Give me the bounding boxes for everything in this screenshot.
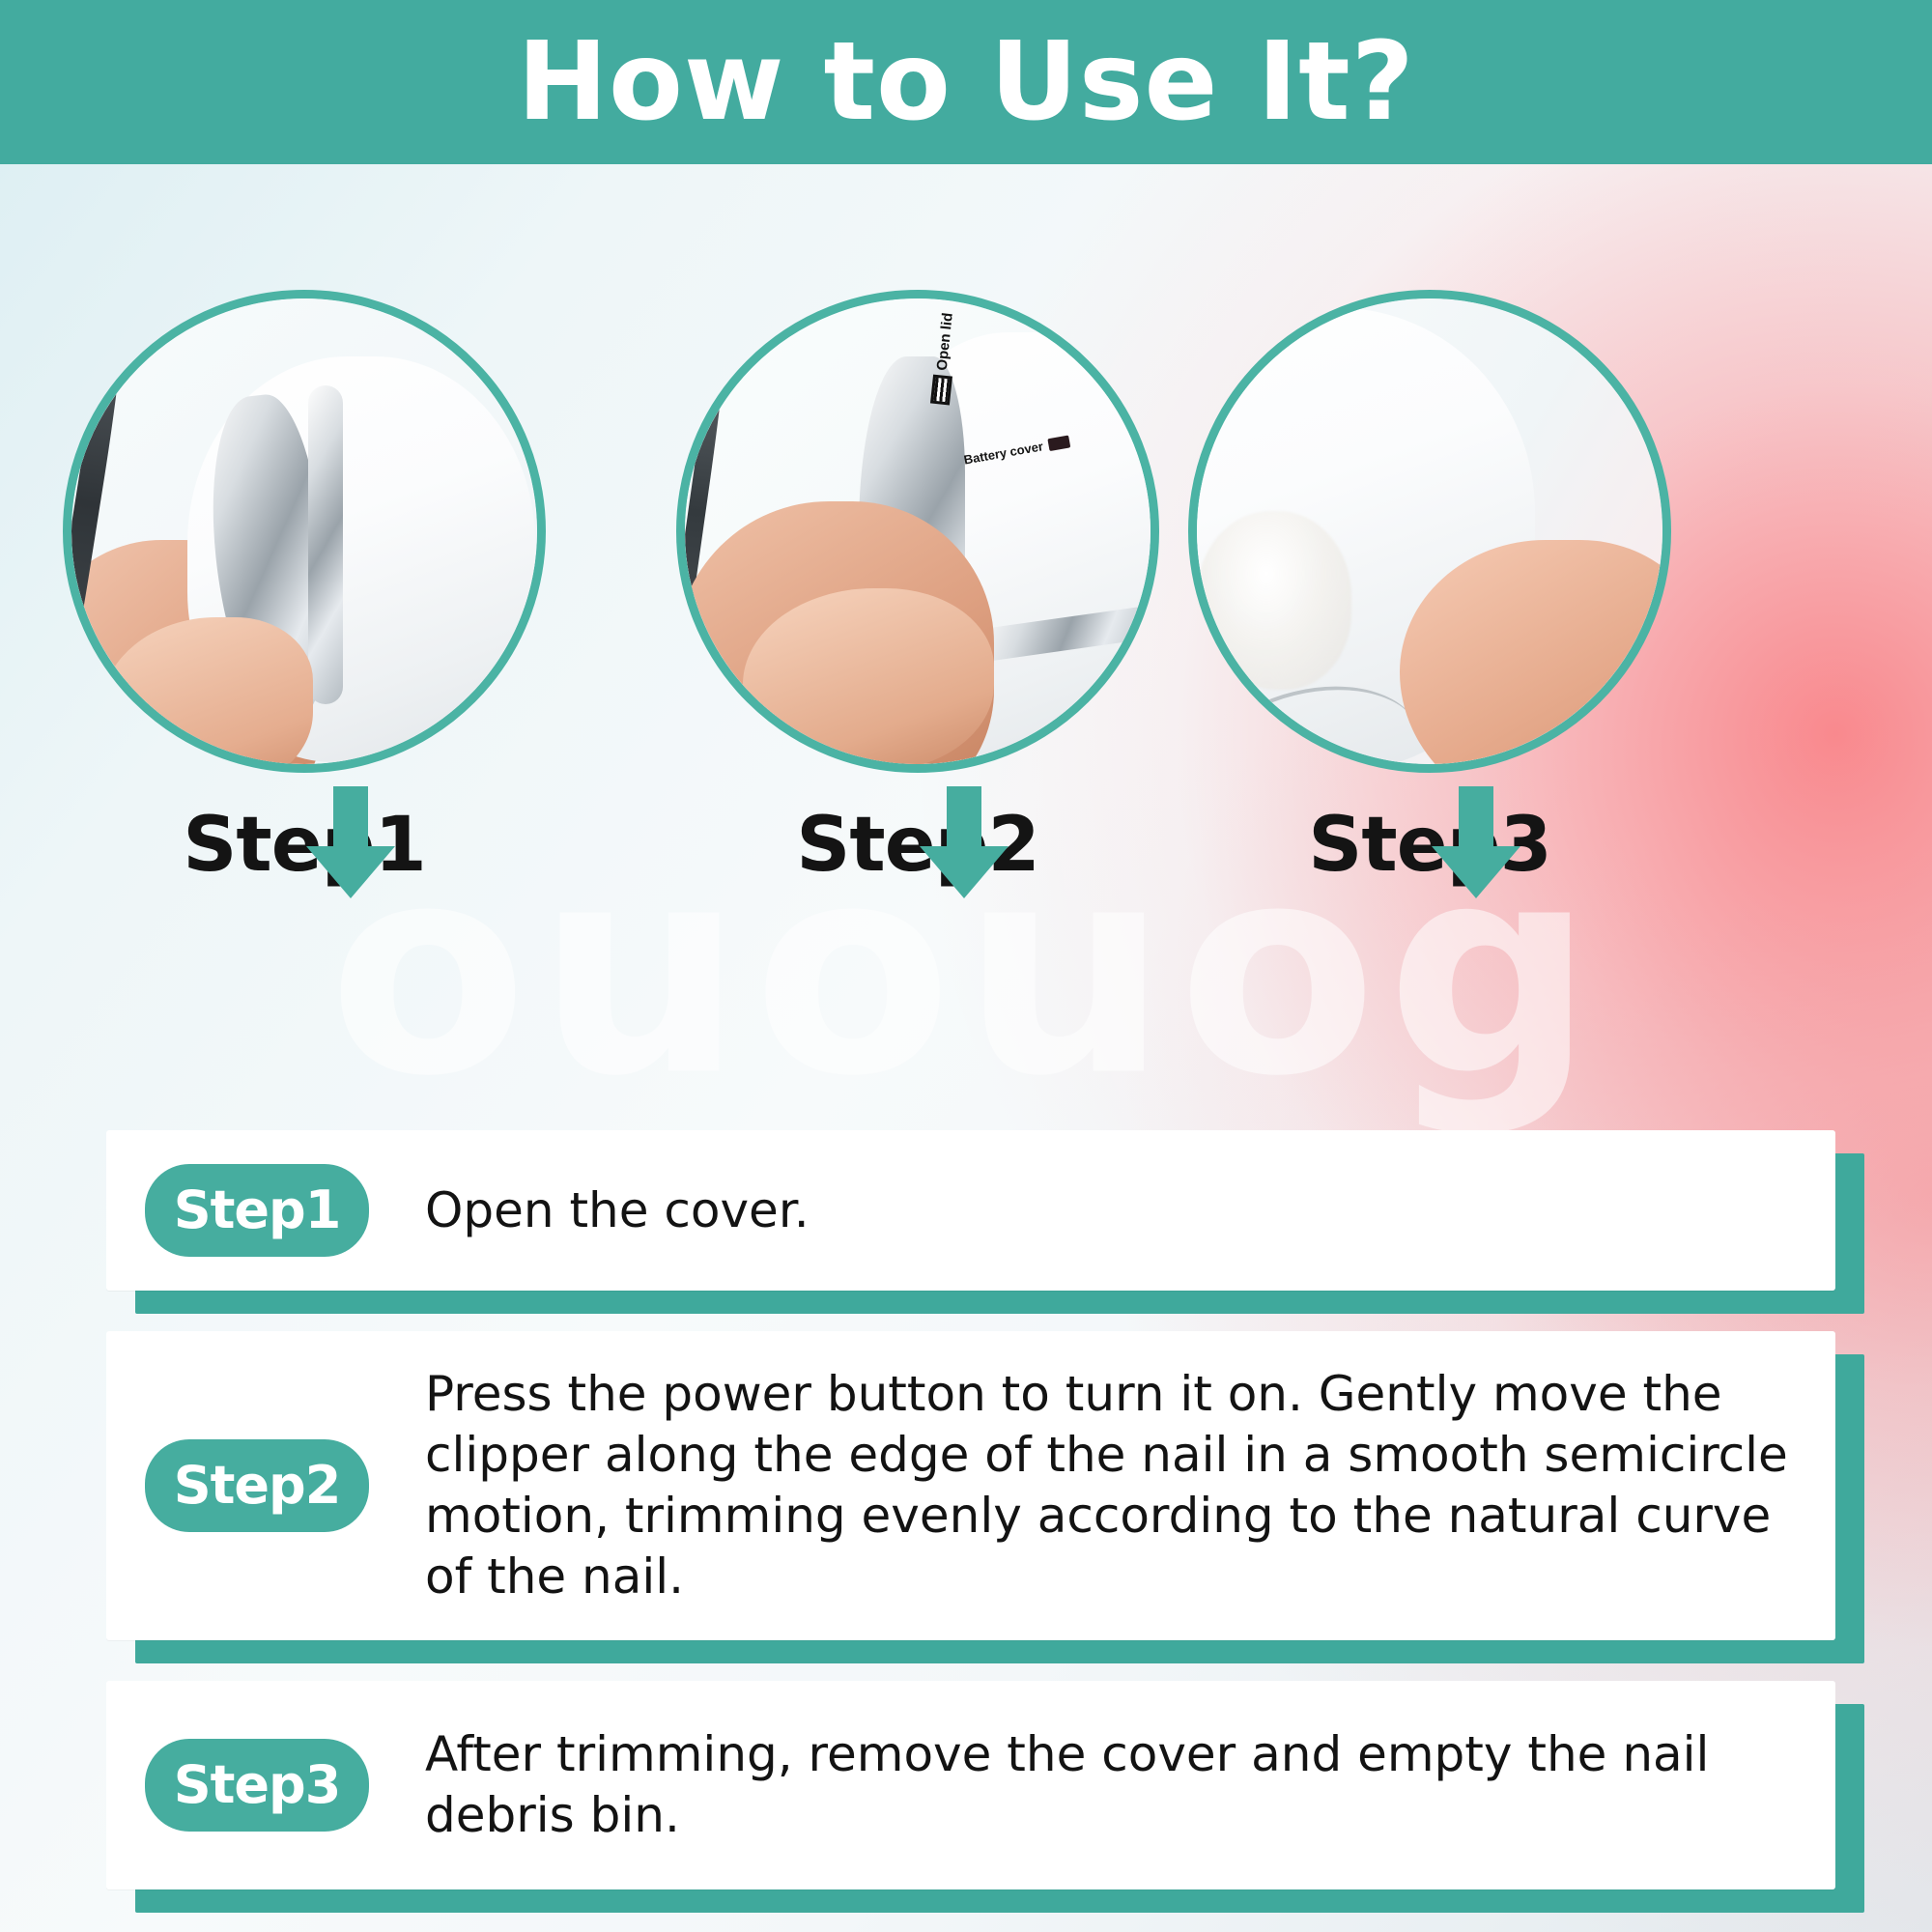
step1-photo-image [71, 298, 537, 764]
arrow-down-icon [304, 786, 397, 900]
open-lid-label-text: Open lid [933, 312, 955, 371]
step-badge-label-2: Step2 [174, 1460, 341, 1512]
step-badge-label-3: Step3 [174, 1759, 341, 1811]
card-body-3: Step3 After trimming, remove the cover a… [106, 1681, 1835, 1889]
step-description-1: Open the cover. [425, 1180, 810, 1241]
step-badge-2: Step2 [145, 1439, 369, 1532]
lid-icon [926, 374, 952, 405]
step-badge-1: Step1 [145, 1164, 369, 1257]
step3-photo-image [1197, 298, 1662, 764]
instruction-card-list: Step1 Open the cover. Step2 Press the po… [0, 1130, 1932, 1930]
card-body-2: Step2 Press the power button to turn it … [106, 1331, 1835, 1640]
step-photo-column-3: Step3 [1188, 290, 1671, 883]
step3-photo [1188, 290, 1671, 773]
instruction-card-step2: Step2 Press the power button to turn it … [106, 1331, 1835, 1640]
instruction-card-step3: Step3 After trimming, remove the cover a… [106, 1681, 1835, 1889]
photo1-chrome-clip [308, 385, 343, 704]
step-badge-label-1: Step1 [174, 1184, 341, 1236]
arrow-down-icon [1430, 786, 1522, 900]
step2-photo: Open lid Battery cover [676, 290, 1159, 773]
page-title: How to Use It? [517, 28, 1414, 136]
header-bar: How to Use It? [0, 0, 1932, 164]
arrow-down-icon [918, 786, 1010, 900]
step-photo-column-1: Step1 [63, 290, 546, 883]
step-description-3: After trimming, remove the cover and emp… [425, 1724, 1797, 1846]
card-body-1: Step1 Open the cover. [106, 1130, 1835, 1291]
step-badge-3: Step3 [145, 1739, 369, 1832]
battery-marker-icon [1047, 435, 1070, 451]
step1-photo [63, 290, 546, 773]
step-photo-column-2: Open lid Battery cover Step2 [676, 290, 1159, 883]
page-root: ououog How to Use It? [0, 0, 1932, 1932]
instruction-card-step1: Step1 Open the cover. [106, 1130, 1835, 1291]
step2-photo-image: Open lid Battery cover [685, 298, 1151, 764]
step-photo-gallery: Step1 Open lid Batt [0, 290, 1932, 802]
step-description-2: Press the power button to turn it on. Ge… [425, 1364, 1797, 1607]
